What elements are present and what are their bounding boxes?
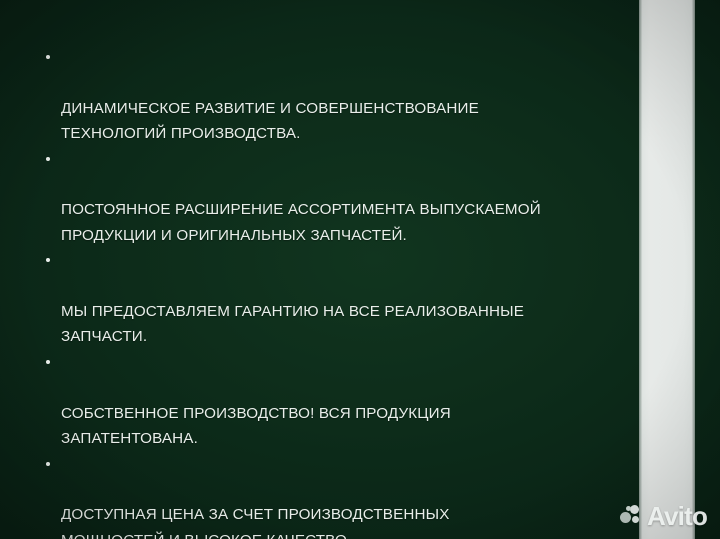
list-item: ПОСТОЯННОЕ РАСШИРЕНИЕ АССОРТИМЕНТА ВЫПУС… xyxy=(40,147,620,249)
avito-logo-icon xyxy=(620,504,644,528)
avito-watermark-label: Avito xyxy=(647,503,707,529)
avito-watermark: Avito xyxy=(620,501,707,531)
benefits-bullet-list: ДИНАМИЧЕСКОЕ РАЗВИТИЕ И СОВЕРШЕНСТВОВАНИ… xyxy=(40,45,620,539)
list-item-text: МЫ ПРЕДОСТАВЛЯЕМ ГАРАНТИЮ НА ВСЕ РЕАЛИЗО… xyxy=(61,303,524,345)
bullet-dot-icon xyxy=(46,157,50,161)
bullet-dot-icon xyxy=(46,360,50,364)
list-item-text: ДИНАМИЧЕСКОЕ РАЗВИТИЕ И СОВЕРШЕНСТВОВАНИ… xyxy=(61,100,479,142)
list-item-text: ДОСТУПНАЯ ЦЕНА ЗА СЧЕТ ПРОИЗВОДСТВЕННЫХ … xyxy=(61,506,449,539)
promo-slide: ДИНАМИЧЕСКОЕ РАЗВИТИЕ И СОВЕРШЕНСТВОВАНИ… xyxy=(0,0,720,539)
bullet-dot-icon xyxy=(46,462,50,466)
right-accent-stripe xyxy=(639,0,695,539)
list-item-text: ПОСТОЯННОЕ РАСШИРЕНИЕ АССОРТИМЕНТА ВЫПУС… xyxy=(61,201,541,243)
list-item-text: СОБСТВЕННОЕ ПРОИЗВОДСТВО! ВСЯ ПРОДУКЦИЯ … xyxy=(61,405,451,447)
list-item: МЫ ПРЕДОСТАВЛЯЕМ ГАРАНТИЮ НА ВСЕ РЕАЛИЗО… xyxy=(40,248,620,350)
bullet-dot-icon xyxy=(46,55,50,59)
list-item: ДИНАМИЧЕСКОЕ РАЗВИТИЕ И СОВЕРШЕНСТВОВАНИ… xyxy=(40,45,620,147)
bullet-dot-icon xyxy=(46,258,50,262)
list-item: ДОСТУПНАЯ ЦЕНА ЗА СЧЕТ ПРОИЗВОДСТВЕННЫХ … xyxy=(40,452,620,539)
list-item: СОБСТВЕННОЕ ПРОИЗВОДСТВО! ВСЯ ПРОДУКЦИЯ … xyxy=(40,350,620,452)
